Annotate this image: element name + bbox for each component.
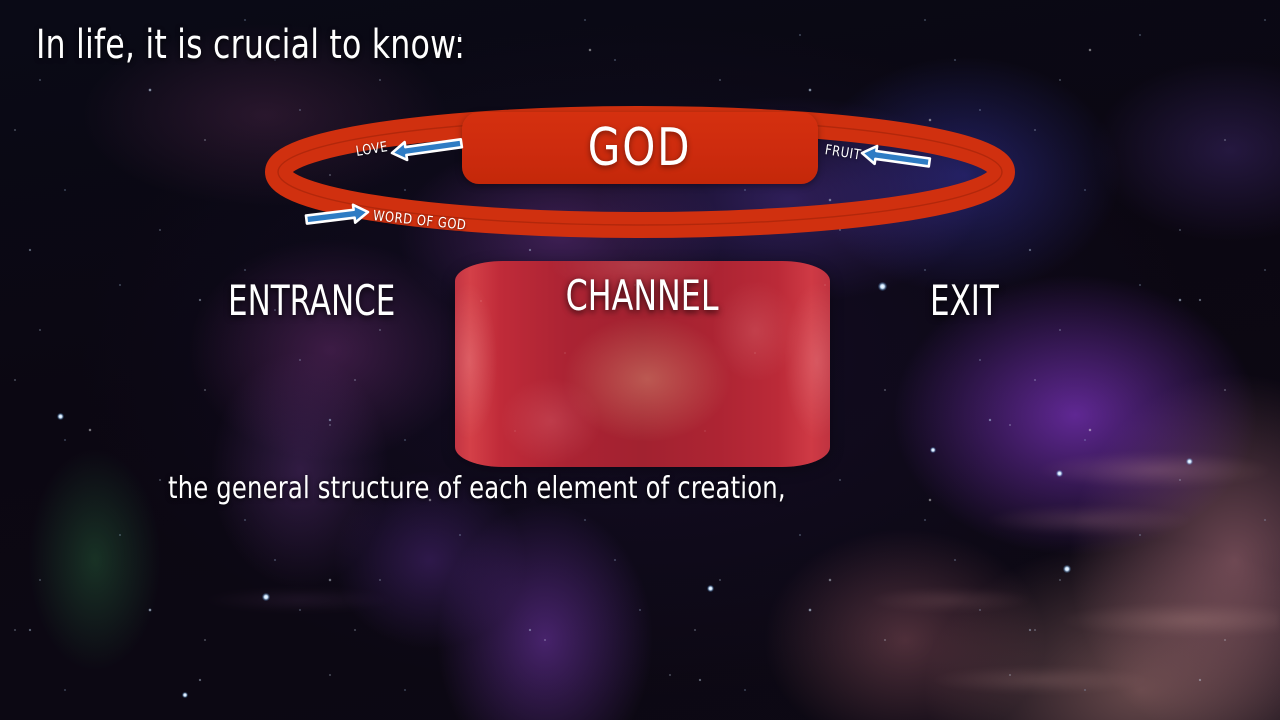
god-node-label: GOD bbox=[462, 116, 818, 180]
slide-title: In life, it is crucial to know: bbox=[36, 22, 465, 68]
bright-star bbox=[262, 593, 270, 601]
channel-node-label: CHANNEL bbox=[455, 271, 830, 320]
bright-star bbox=[1063, 565, 1071, 573]
bright-star bbox=[878, 282, 887, 291]
bright-star bbox=[930, 447, 936, 453]
bright-star bbox=[1186, 458, 1193, 465]
exit-label: EXIT bbox=[930, 276, 999, 325]
bright-star bbox=[707, 585, 714, 592]
bright-star bbox=[1056, 470, 1063, 477]
slide-canvas: In life, it is crucial to know: GOD LOVE… bbox=[0, 0, 1280, 720]
bright-star bbox=[182, 692, 188, 698]
entrance-label: ENTRANCE bbox=[228, 276, 395, 325]
slide-caption: the general structure of each element of… bbox=[168, 471, 786, 506]
bright-star bbox=[57, 413, 64, 420]
